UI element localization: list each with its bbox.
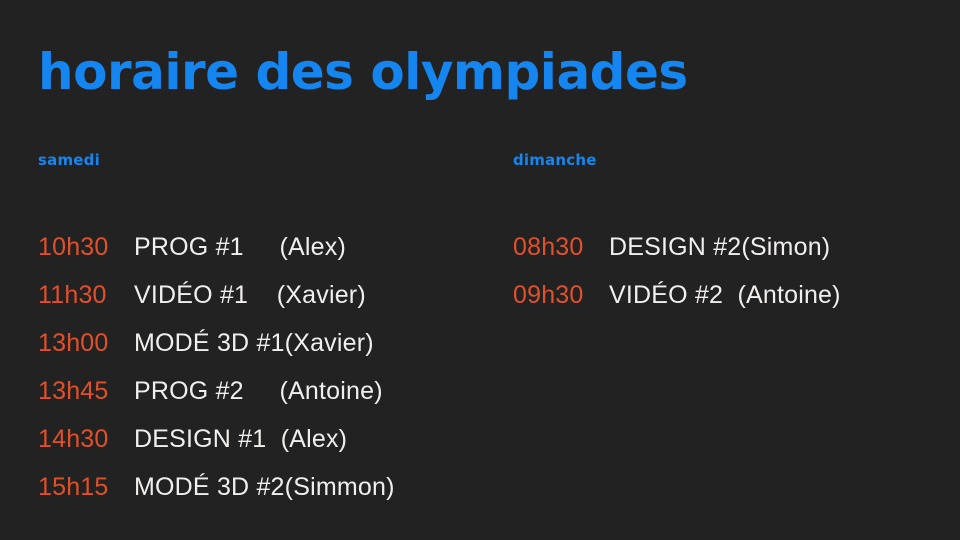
schedule-row: 13h00 MODÉ 3D #1 (Xavier) [38, 328, 498, 376]
row-activity: VIDÉO #2 [609, 280, 723, 310]
row-activity: PROG #2 [134, 376, 244, 406]
schedule-row: 08h30 DESIGN #2 (Simon) [513, 232, 953, 280]
row-time: 11h30 [38, 280, 134, 310]
page-title: horaire des olympiades [38, 44, 688, 100]
day-header-samedi: samedi [38, 150, 498, 170]
day-column-samedi: samedi 10h30 PROG #1 (Alex) 11h30 VIDÉO … [38, 150, 498, 520]
row-person: (Alex) [244, 232, 346, 262]
day-header-dimanche: dimanche [513, 150, 953, 170]
schedule-row: 10h30 PROG #1 (Alex) [38, 232, 498, 280]
row-time: 15h15 [38, 472, 134, 502]
row-activity: VIDÉO #1 [134, 280, 248, 310]
schedule-row: 14h30 DESIGN #1 (Alex) [38, 424, 498, 472]
row-time: 13h45 [38, 376, 134, 406]
schedule-list-samedi: 10h30 PROG #1 (Alex) 11h30 VIDÉO #1 (Xav… [38, 232, 498, 520]
row-activity: MODÉ 3D #2 [134, 472, 285, 502]
row-activity: PROG #1 [134, 232, 244, 262]
row-activity: DESIGN #2 [609, 232, 741, 262]
schedule-row: 11h30 VIDÉO #1 (Xavier) [38, 280, 498, 328]
row-time: 14h30 [38, 424, 134, 454]
row-time: 13h00 [38, 328, 134, 358]
day-column-dimanche: dimanche 08h30 DESIGN #2 (Simon) 09h30 V… [513, 150, 953, 328]
row-person: (Xavier) [285, 328, 374, 358]
row-person: (Antoine) [723, 280, 841, 310]
schedule-list-dimanche: 08h30 DESIGN #2 (Simon) 09h30 VIDÉO #2 (… [513, 232, 953, 328]
row-person: (Antoine) [244, 376, 383, 406]
row-activity: DESIGN #1 [134, 424, 266, 454]
row-person: (Alex) [266, 424, 347, 454]
schedule-row: 09h30 VIDÉO #2 (Antoine) [513, 280, 953, 328]
schedule-row: 13h45 PROG #2 (Antoine) [38, 376, 498, 424]
row-time: 08h30 [513, 232, 609, 262]
schedule-row: 15h15 MODÉ 3D #2 (Simmon) [38, 472, 498, 520]
row-person: (Xavier) [248, 280, 366, 310]
row-activity: MODÉ 3D #1 [134, 328, 285, 358]
row-time: 09h30 [513, 280, 609, 310]
row-time: 10h30 [38, 232, 134, 262]
slide-root: horaire des olympiades samedi 10h30 PROG… [0, 0, 960, 540]
row-person: (Simon) [741, 232, 830, 262]
row-person: (Simmon) [285, 472, 395, 502]
